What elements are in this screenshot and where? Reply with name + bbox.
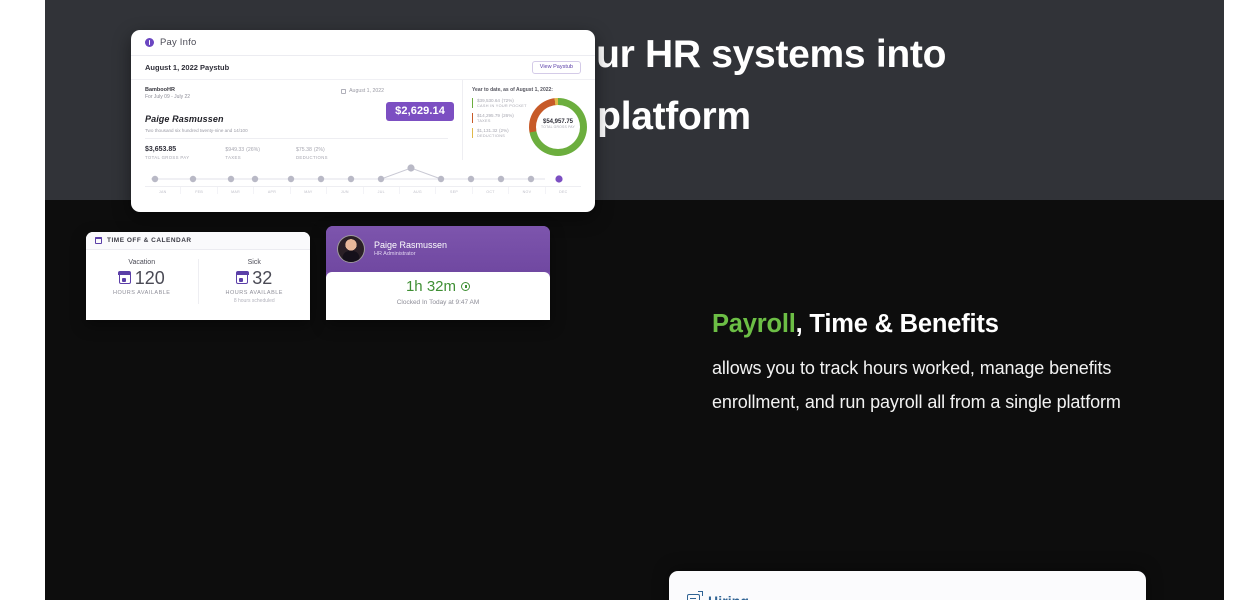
time-off-label: Vacation (86, 259, 198, 266)
axis-tick: DEC (546, 187, 581, 194)
feature-copy: Payroll, Time & Benefits allows you to t… (712, 310, 1142, 419)
ytd-label: TAXES (477, 119, 527, 123)
time-off-sub: HOURS AVAILABLE (86, 290, 198, 296)
axis-tick: OCT (473, 187, 509, 194)
time-off-sub2: 8 hours scheduled (199, 298, 311, 304)
profile-header: Paige Rasmussen HR Administrator (326, 226, 550, 272)
ytd-label: DEDUCTIONS (477, 134, 527, 138)
ytd-amount: $39,530.64 (477, 98, 500, 103)
ytd-percent: (72%) (502, 98, 514, 103)
time-off-header: TIME OFF & CALENDAR (86, 232, 310, 250)
sparkline-svg (145, 160, 581, 186)
time-off-hours: 120 (86, 269, 198, 287)
figure-item: $3,653.85 TOTAL GROSS PAY (145, 146, 189, 160)
ytd-title: Year to date, as of August 1, 2022: (472, 87, 587, 93)
ytd-row: $1,131.32 (2%) DEDUCTIONS (472, 128, 527, 138)
ytd-content: $39,530.64 (72%) CASH IN YOUR POCKET $14… (472, 98, 587, 156)
view-paystub-button[interactable]: View Paystub (532, 61, 581, 75)
calendar-hours-icon (236, 272, 248, 284)
paystub-date-label: August 1, 2022 (349, 88, 384, 94)
time-off-card[interactable]: TIME OFF & CALENDAR Vacation 120 HOURS A… (86, 232, 310, 320)
amount-in-words: Two thousand six hundred twenty-nine and… (145, 128, 448, 139)
time-off-column-sick[interactable]: Sick 32 HOURS AVAILABLE 8 hours schedule… (199, 259, 311, 304)
ytd-amount: $1,131.32 (477, 128, 497, 133)
axis-tick: AUG (400, 187, 436, 194)
feature-heading-rest: , Time & Benefits (796, 310, 999, 338)
hiring-title: Hiring (708, 593, 749, 600)
time-off-sub: HOURS AVAILABLE (199, 290, 311, 296)
paystub-check: BambooHR For July 09 - July 22 August 1,… (131, 80, 463, 160)
ytd-row: $39,530.64 (72%) CASH IN YOUR POCKET (472, 98, 527, 108)
employer-name: BambooHR (145, 87, 448, 94)
ytd-label: CASH IN YOUR POCKET (477, 104, 527, 108)
time-off-column-vacation[interactable]: Vacation 120 HOURS AVAILABLE (86, 259, 199, 304)
donut-center-label: $54,957.75 TOTAL GROSS PAY (529, 119, 587, 129)
net-pay-badge: $2,629.14 (386, 102, 454, 121)
pay-info-card[interactable]: Pay Info August 1, 2022 Paystub View Pay… (131, 30, 595, 212)
document-hiring-icon (687, 594, 700, 600)
calendar-icon (341, 89, 346, 94)
axis-tick: JAN (145, 187, 181, 194)
paystub-figures: $3,653.85 TOTAL GROSS PAY $949.33 (26%) … (145, 146, 448, 160)
figure-amount: $75.38 (296, 147, 312, 153)
timer-display: 1h 32m (406, 279, 470, 294)
calendar-hours-icon (119, 272, 131, 284)
timer-value: 1h 32m (406, 279, 456, 294)
figure-value: $75.38 (2%) (296, 146, 328, 153)
axis-tick: JUL (364, 187, 400, 194)
ytd-donut-chart: $54,957.75 TOTAL GROSS PAY (529, 98, 587, 156)
time-off-hours-value: 120 (135, 269, 165, 287)
ytd-percent: (2%) (499, 128, 509, 133)
figure-value: $3,653.85 (145, 146, 189, 153)
info-circle-icon (145, 38, 154, 47)
figure-amount: $949.33 (225, 147, 244, 153)
paystub-body: BambooHR For July 09 - July 22 August 1,… (131, 80, 595, 160)
page-root: Combine all your HR systems into one pla… (0, 0, 1260, 600)
axis-tick: NOV (509, 187, 545, 194)
employee-profile-card[interactable]: Paige Rasmussen HR Administrator 1h 32m … (326, 226, 550, 320)
axis-tick: SEP (436, 187, 472, 194)
figure-value: $949.33 (26%) (225, 146, 260, 153)
donut-label: TOTAL GROSS PAY (529, 125, 587, 129)
time-off-title: TIME OFF & CALENDAR (107, 237, 192, 244)
time-off-hours-value: 32 (252, 269, 272, 287)
figure-percent: (2%) (314, 147, 325, 153)
axis-tick: JUN (327, 187, 363, 194)
time-off-body: Vacation 120 HOURS AVAILABLE Sick 32 HOU… (86, 250, 310, 304)
clocked-in-status: Clocked In Today at 9:47 AM (397, 299, 480, 306)
time-off-label: Sick (199, 259, 311, 266)
paystub-date: August 1, 2022 (341, 88, 384, 94)
axis-tick: FEB (181, 187, 217, 194)
axis-tick: MAY (291, 187, 327, 194)
pay-history-sparkline: JAN FEB MAR APR MAY JUN JUL AUG SEP OCT … (131, 160, 595, 204)
avatar (337, 235, 365, 263)
profile-identity: Paige Rasmussen HR Administrator (374, 240, 447, 259)
year-to-date-panel: Year to date, as of August 1, 2022: $39,… (463, 80, 595, 160)
ytd-legend: $39,530.64 (72%) CASH IN YOUR POCKET $14… (472, 98, 527, 156)
axis-tick: MAR (218, 187, 254, 194)
product-screenshot-stack: Pay Info August 1, 2022 Paystub View Pay… (86, 30, 706, 400)
figure-item: $949.33 (26%) TAXES (225, 146, 260, 160)
figure-percent: (26%) (246, 147, 260, 153)
hiring-card[interactable]: Hiring (669, 571, 1146, 600)
ytd-percent: (26%) (502, 113, 514, 118)
stopwatch-icon (461, 282, 470, 291)
pay-period: For July 09 - July 22 (145, 94, 448, 102)
time-off-hours: 32 (199, 269, 311, 287)
ytd-row: $14,295.79 (26%) TAXES (472, 113, 527, 123)
paystub-title: August 1, 2022 Paystub (145, 63, 229, 72)
sparkline-axis: JAN FEB MAR APR MAY JUN JUL AUG SEP OCT … (145, 186, 581, 194)
feature-heading-accent: Payroll (712, 310, 796, 338)
feature-heading: Payroll, Time & Benefits (712, 310, 1142, 339)
figure-item: $75.38 (2%) DEDUCTIONS (296, 146, 328, 160)
paystub-subheader: August 1, 2022 Paystub View Paystub (131, 56, 595, 80)
calendar-icon (95, 237, 102, 244)
feature-paragraph: allows you to track hours worked, manage… (712, 351, 1142, 419)
ytd-amount: $14,295.79 (477, 113, 500, 118)
pay-info-header: Pay Info (131, 30, 595, 56)
profile-name: Paige Rasmussen (374, 240, 447, 251)
profile-role: HR Administrator (374, 251, 447, 259)
axis-tick: APR (254, 187, 290, 194)
pay-info-title: Pay Info (160, 37, 196, 48)
time-tracking-panel[interactable]: 1h 32m Clocked In Today at 9:47 AM (326, 272, 550, 320)
